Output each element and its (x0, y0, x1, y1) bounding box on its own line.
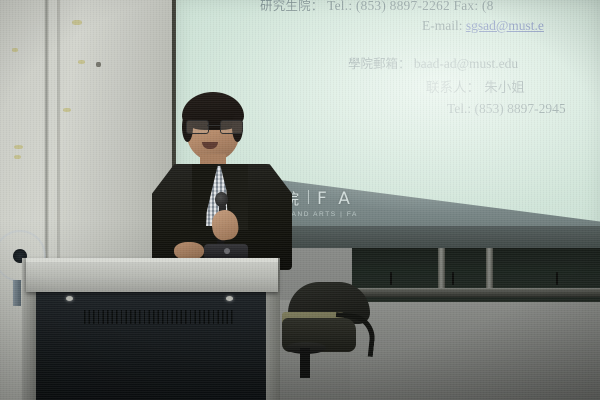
slide-line-1-cjk: 研究生院： (260, 0, 324, 13)
slide-line-1: 研究生院： Tel.: (853) 8897-2262 Fax: (8 (260, 0, 494, 14)
slide-line-3-cjk: 學院郵箱： (348, 56, 411, 71)
slide-line-3: 學院郵箱： baad-ad@must.edu (348, 53, 518, 72)
lectern-screw-left (66, 296, 73, 301)
slide-line-2: E-mail: sgsad@must.e (422, 18, 544, 34)
chalkboard-hook (452, 272, 454, 285)
lectern-vents (84, 310, 236, 324)
slide-line-3-text: baad-ad@must.edu (414, 56, 518, 71)
email-label: E-mail: (422, 18, 463, 33)
wall-mark (63, 108, 71, 112)
glasses-lens-right (220, 120, 243, 134)
wall-seam-secondary (57, 0, 60, 300)
lectern-screw-right (226, 296, 233, 301)
faculty-logo-divider-icon (308, 190, 309, 204)
glasses-icon (186, 120, 241, 132)
chair-post (300, 348, 310, 378)
slide-line-1-text: Tel.: (853) 8897-2262 Fax: (8 (327, 0, 493, 13)
wall-mark (72, 20, 82, 25)
slide-line-4: 联系人： 朱小姐 (426, 76, 525, 96)
wall-mark (14, 145, 23, 149)
back-wall-right (350, 300, 600, 400)
glasses-bridge (207, 125, 220, 126)
presenter (152, 92, 292, 270)
slide-line-5: Tel.: (853) 8897-2945 (447, 101, 566, 117)
chalkboard-hook (390, 272, 392, 285)
handheld-device-button (224, 248, 230, 254)
wall-mark (12, 48, 18, 52)
fan-stand (13, 280, 21, 306)
lectern-body (34, 292, 270, 400)
wall-hole (96, 62, 101, 67)
chalkboard-rail (352, 288, 600, 297)
wall-mark (78, 60, 85, 64)
lecture-photo: 研究生院： Tel.: (853) 8897-2262 Fax: (8 E-ma… (0, 0, 600, 400)
lectern-top-edge (26, 258, 278, 262)
email-link[interactable]: sgsad@must.e (466, 18, 544, 33)
wall-mark (14, 155, 21, 159)
lectern-top (26, 258, 278, 292)
chalkboard-hook (556, 272, 558, 285)
glasses-lens-left (186, 120, 209, 134)
faculty-logo-abbrev: F A (317, 191, 353, 208)
